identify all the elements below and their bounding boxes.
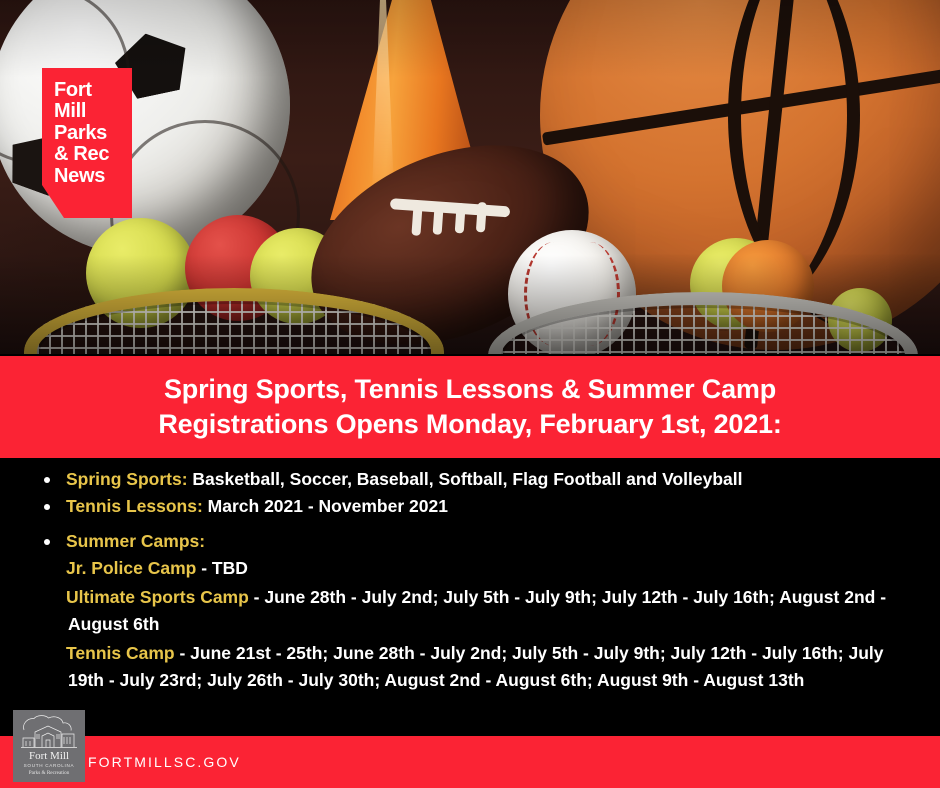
logo-department-name: Parks & Recreation <box>29 769 70 777</box>
list-item-label: Summer Camps: <box>66 531 205 551</box>
list-item-value: Basketball, Soccer, Baseball, Softball, … <box>188 469 743 489</box>
list-item: Summer Camps: <box>30 528 916 555</box>
town-hall-building-icon <box>20 714 78 748</box>
list-item-label: Spring Sports: <box>66 469 188 489</box>
camp-item-ultimate-sports: Ultimate Sports Camp - June 28th - July … <box>30 584 916 638</box>
camp-label: Jr. Police Camp <box>66 558 196 578</box>
brand-badge: Fort Mill Parks & Rec News <box>42 68 132 218</box>
website-url[interactable]: FORTMILLSC.GOV <box>88 754 241 770</box>
list-item-label: Tennis Lessons: <box>66 496 203 516</box>
camp-item-tennis: Tennis Camp - June 21st - 25th; June 28t… <box>30 640 916 694</box>
page-title: Spring Sports, Tennis Lessons & Summer C… <box>136 372 803 442</box>
logo-state-name: SOUTH CAROLINA <box>24 762 75 769</box>
headline-band: Spring Sports, Tennis Lessons & Summer C… <box>0 356 940 458</box>
camp-item-jr-police: Jr. Police Camp - TBD <box>30 555 916 582</box>
camp-label: Ultimate Sports Camp <box>66 587 249 607</box>
camp-label: Tennis Camp <box>66 643 175 663</box>
brand-badge-text: Fort Mill Parks & Rec News <box>54 80 132 187</box>
camp-value: - TBD <box>196 558 248 578</box>
fort-mill-logo: Fort Mill SOUTH CAROLINA Parks & Recreat… <box>13 710 85 782</box>
bullet-icon <box>44 477 50 483</box>
bullet-icon <box>44 504 50 510</box>
photo-vignette <box>0 0 940 354</box>
list-item: Spring Sports: Basketball, Soccer, Baseb… <box>30 466 916 493</box>
sports-equipment-photo <box>0 0 940 354</box>
logo-town-name: Fort Mill <box>29 750 69 762</box>
list-item: Tennis Lessons: March 2021 - November 20… <box>30 493 916 520</box>
announcement-list: Spring Sports: Basketball, Soccer, Baseb… <box>0 462 940 694</box>
footer-bar: FORTMILLSC.GOV <box>0 736 940 788</box>
poster: Fort Mill Parks & Rec News Spring Sports… <box>0 0 940 788</box>
list-item-value: March 2021 - November 2021 <box>203 496 448 516</box>
camp-value: - June 21st - 25th; June 28th - July 2nd… <box>68 643 884 690</box>
bullet-icon <box>44 539 50 545</box>
